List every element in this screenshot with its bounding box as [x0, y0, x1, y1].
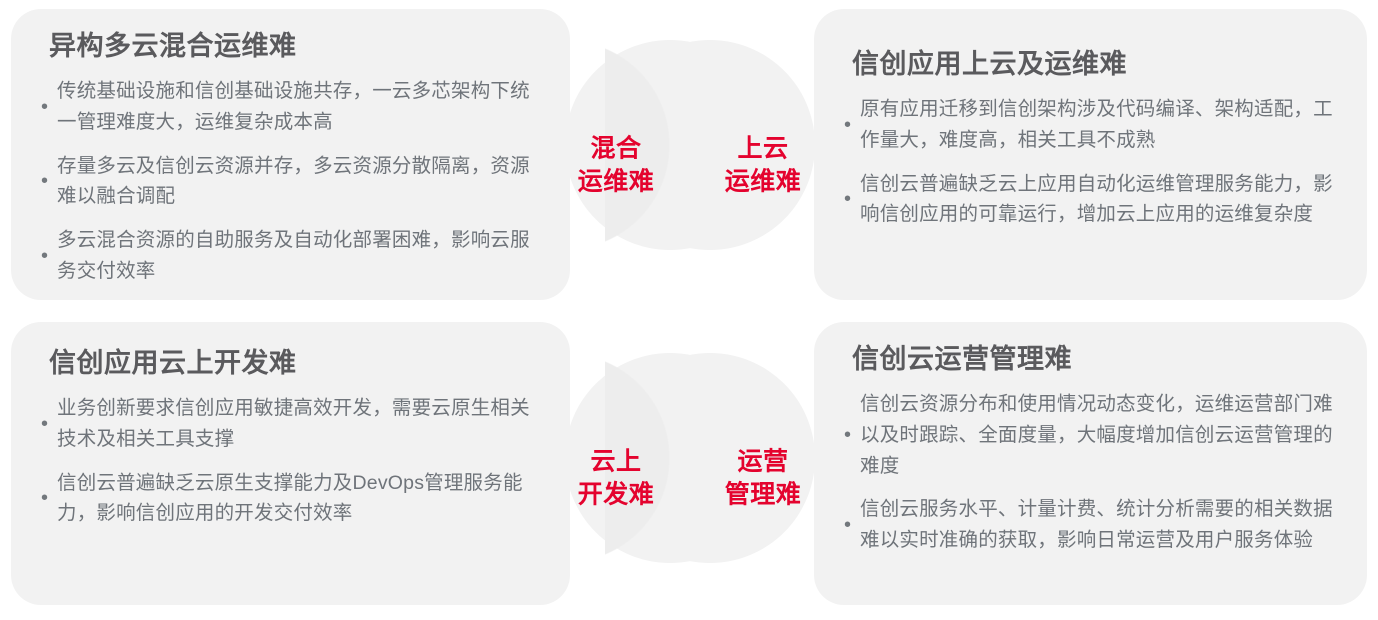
panel-top-left: 异构多云混合运维难 传统基础设施和信创基础设施共存，一云多芯架构下统一管理难度大… — [11, 9, 570, 300]
list-item-text: 信创云服务水平、计量计费、统计分析需要的相关数据难以实时准确的获取，影响日常运营… — [860, 494, 1345, 556]
list-item-text: 信创云资源分布和使用情况动态变化，运维运营部门难以及时跟踪、全面度量，大幅度增加… — [860, 389, 1345, 481]
list-item: 存量多云及信创云资源并存，多云资源分散隔离，资源难以融合调配 — [41, 151, 544, 213]
panel-bottom-left: 信创应用云上开发难 业务创新要求信创应用敏捷高效开发，需要云原生相关技术及相关工… — [11, 322, 570, 605]
list-item: 信创云普遍缺乏云上应用自动化运维管理服务能力，影响信创应用的可靠运行，增加云上应… — [844, 169, 1345, 231]
bullet-dot-icon — [844, 115, 860, 135]
venn-label-line-2: 管理难 — [709, 478, 817, 511]
list-item: 信创云服务水平、计量计费、统计分析需要的相关数据难以实时准确的获取，影响日常运营… — [844, 494, 1345, 556]
panel-top-right-bullet-list: 原有应用迁移到信创架构涉及代码编译、架构适配，工作量大，难度高，相关工具不成熟 … — [844, 94, 1345, 230]
venn-diagram-top: 混合 运维难 上云 运维难 — [565, 40, 815, 290]
panel-top-left-title: 异构多云混合运维难 — [49, 31, 544, 62]
panel-bottom-right: 信创云运营管理难 信创云资源分布和使用情况动态变化，运维运营部门难以及时跟踪、全… — [814, 322, 1367, 605]
venn-label-bottom-left: 云上 开发难 — [562, 446, 670, 511]
venn-label-line-2: 运维难 — [709, 165, 817, 198]
bullet-dot-icon — [41, 488, 57, 508]
venn-label-line-1: 云上 — [562, 446, 670, 479]
list-item: 信创云资源分布和使用情况动态变化，运维运营部门难以及时跟踪、全面度量，大幅度增加… — [844, 389, 1345, 481]
list-item-text: 传统基础设施和信创基础设施共存，一云多芯架构下统一管理难度大，运维复杂成本高 — [57, 76, 544, 138]
panel-bottom-left-bullet-list: 业务创新要求信创应用敏捷高效开发，需要云原生相关技术及相关工具支撑 信创云普遍缺… — [41, 393, 544, 529]
list-item-text: 业务创新要求信创应用敏捷高效开发，需要云原生相关技术及相关工具支撑 — [57, 393, 544, 455]
venn-diagram-bottom: 云上 开发难 运营 管理难 — [565, 353, 815, 603]
venn-label-line-1: 上云 — [709, 133, 817, 166]
venn-label-line-1: 混合 — [562, 133, 670, 166]
venn-label-line-2: 开发难 — [562, 478, 670, 511]
bullet-dot-icon — [41, 414, 57, 434]
panel-bottom-right-title: 信创云运营管理难 — [852, 344, 1345, 375]
venn-label-top-left: 混合 运维难 — [562, 133, 670, 198]
venn-label-line-2: 运维难 — [562, 165, 670, 198]
venn-label-bottom-right: 运营 管理难 — [709, 446, 817, 511]
list-item-text: 多云混合资源的自助服务及自动化部署困难，影响云服务交付效率 — [57, 225, 544, 287]
list-item-text: 信创云普遍缺乏云上应用自动化运维管理服务能力，影响信创应用的可靠运行，增加云上应… — [860, 169, 1345, 231]
bullet-dot-icon — [844, 425, 860, 445]
bullet-dot-icon — [844, 515, 860, 535]
panel-top-right: 信创应用上云及运维难 原有应用迁移到信创架构涉及代码编译、架构适配，工作量大，难… — [814, 9, 1367, 300]
panel-top-right-title: 信创应用上云及运维难 — [852, 49, 1345, 80]
panel-bottom-right-bullet-list: 信创云资源分布和使用情况动态变化，运维运营部门难以及时跟踪、全面度量，大幅度增加… — [844, 389, 1345, 556]
venn-label-line-1: 运营 — [709, 446, 817, 479]
venn-label-top-right: 上云 运维难 — [709, 133, 817, 198]
list-item: 多云混合资源的自助服务及自动化部署困难，影响云服务交付效率 — [41, 225, 544, 287]
list-item: 传统基础设施和信创基础设施共存，一云多芯架构下统一管理难度大，运维复杂成本高 — [41, 76, 544, 138]
bullet-dot-icon — [41, 97, 57, 117]
list-item: 原有应用迁移到信创架构涉及代码编译、架构适配，工作量大，难度高，相关工具不成熟 — [844, 94, 1345, 156]
list-item-text: 信创云普遍缺乏云原生支撑能力及DevOps管理服务能力，影响信创应用的开发交付效… — [57, 468, 544, 530]
list-item: 信创云普遍缺乏云原生支撑能力及DevOps管理服务能力，影响信创应用的开发交付效… — [41, 468, 544, 530]
list-item-text: 原有应用迁移到信创架构涉及代码编译、架构适配，工作量大，难度高，相关工具不成熟 — [860, 94, 1345, 156]
list-item-text: 存量多云及信创云资源并存，多云资源分散隔离，资源难以融合调配 — [57, 151, 544, 213]
bullet-dot-icon — [41, 171, 57, 191]
panel-bottom-left-title: 信创应用云上开发难 — [49, 348, 544, 379]
bullet-dot-icon — [41, 246, 57, 266]
infographic-stage: 异构多云混合运维难 传统基础设施和信创基础设施共存，一云多芯架构下统一管理难度大… — [0, 0, 1378, 620]
panel-top-left-bullet-list: 传统基础设施和信创基础设施共存，一云多芯架构下统一管理难度大，运维复杂成本高 存… — [41, 76, 544, 287]
list-item: 业务创新要求信创应用敏捷高效开发，需要云原生相关技术及相关工具支撑 — [41, 393, 544, 455]
bullet-dot-icon — [844, 189, 860, 209]
